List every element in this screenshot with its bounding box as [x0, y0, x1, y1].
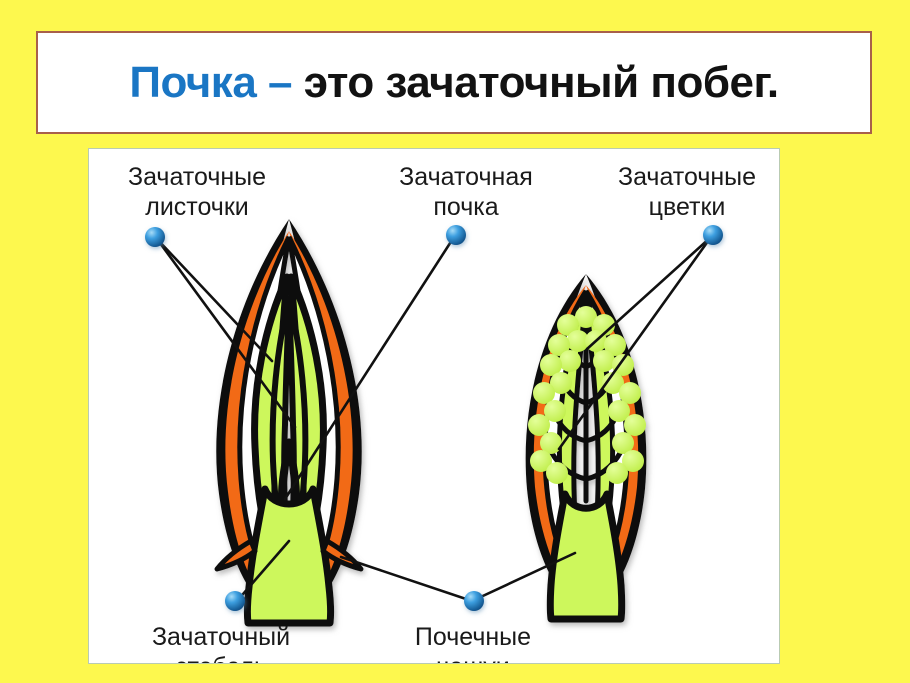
- label-rudimentary-stem-line2: стебель: [175, 653, 267, 663]
- pointer-dot-rudimentary-flowers: [703, 225, 723, 245]
- label-rudimentary-bud-line2: почка: [433, 193, 498, 221]
- label-bud-scales: Почечные чешуи: [415, 623, 531, 663]
- flower-bud-rudimentary-stem: [550, 494, 622, 619]
- bud-structure-diagram: Зачаточные листочки Зачаточная почка Зач…: [89, 149, 779, 663]
- label-rudimentary-leaves: Зачаточные листочки: [128, 163, 266, 221]
- label-rudimentary-leaves-line2: листочки: [145, 193, 249, 221]
- label-rudimentary-bud-line1: Зачаточная: [399, 163, 533, 191]
- title-rest: это зачаточный побег.: [292, 58, 779, 107]
- pointer-dot-bud-scales: [464, 591, 484, 611]
- label-bud-scales-line2: чешуи: [436, 653, 509, 663]
- label-rudimentary-bud: Зачаточная почка: [399, 163, 533, 221]
- pointer-dot-rudimentary-stem: [225, 591, 245, 611]
- title-keyword: Почка –: [129, 58, 292, 107]
- label-rudimentary-flowers: Зачаточные цветки: [618, 163, 756, 221]
- pointer-dot-rudimentary-leaves: [145, 227, 165, 247]
- pointer-dot-rudimentary-bud: [446, 225, 466, 245]
- page-title: Почка – это зачаточный побег.: [129, 61, 778, 105]
- leaf-bud-rudimentary-stem: [247, 489, 330, 623]
- label-rudimentary-flowers-line2: цветки: [649, 193, 726, 221]
- title-banner: Почка – это зачаточный побег.: [36, 31, 872, 134]
- label-rudimentary-flowers-line1: Зачаточные: [618, 163, 756, 191]
- label-rudimentary-leaves-line1: Зачаточные: [128, 163, 266, 191]
- label-rudimentary-stem: Зачаточный стебель: [152, 623, 290, 663]
- diagram-panel: Зачаточные листочки Зачаточная почка Зач…: [88, 148, 780, 664]
- label-rudimentary-stem-line1: Зачаточный: [152, 623, 290, 651]
- label-bud-scales-line1: Почечные: [415, 623, 531, 651]
